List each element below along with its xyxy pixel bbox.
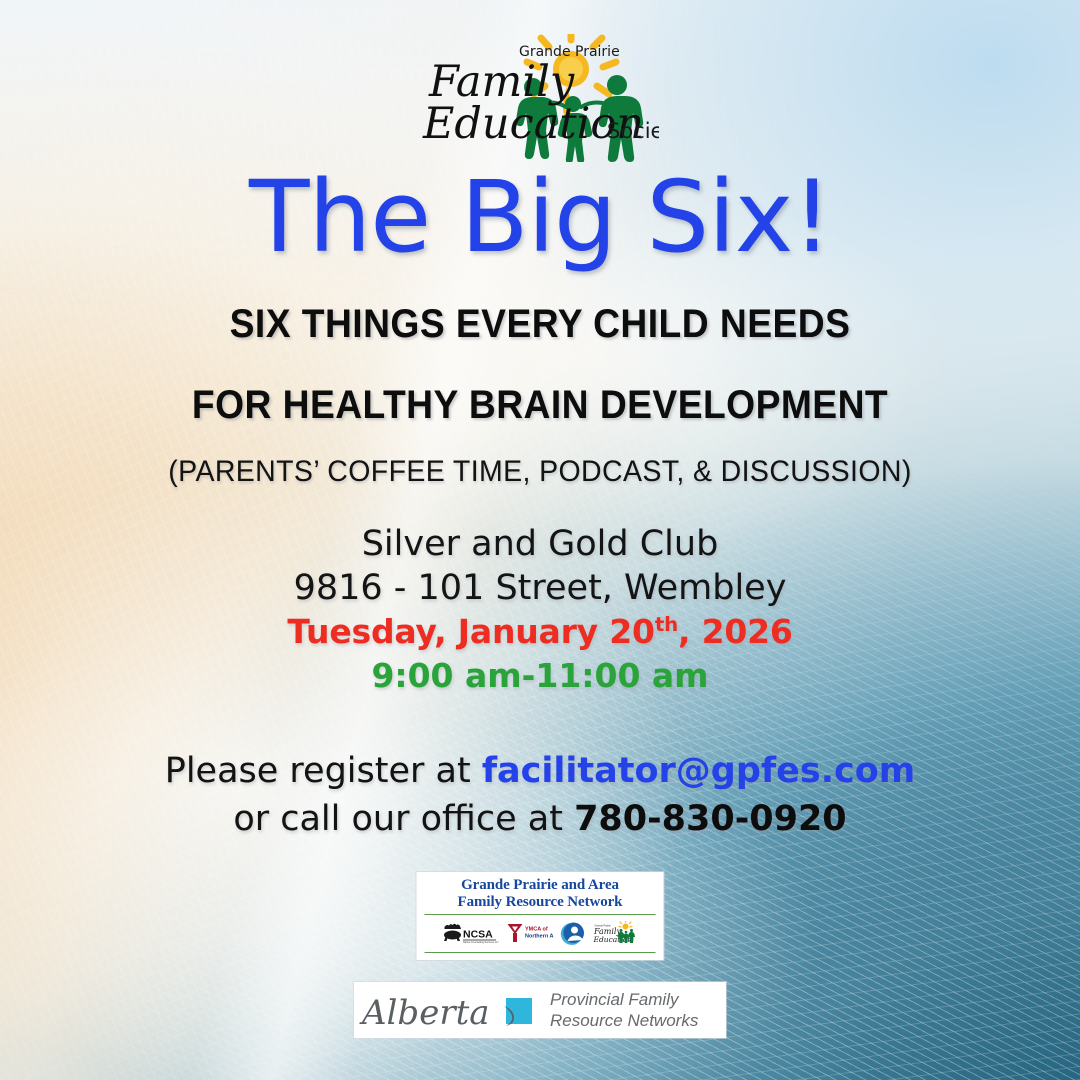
alberta-logo: Alberta Provincial Family Resource Netwo… <box>354 982 726 1038</box>
call-line: or call our office at 780-830-0920 <box>0 795 1080 843</box>
subtitle-line-1: SIX THINGS EVERY CHILD NEEDS <box>38 302 1042 347</box>
event-date-suffix: , 2026 <box>678 612 793 651</box>
office-phone-number[interactable]: 780-830-0920 <box>574 799 847 839</box>
frn-divider-top <box>425 914 656 915</box>
organization-logo: Grande Prairie Family Education Society <box>0 34 1080 162</box>
registration-details: Please register at facilitator@gpfes.com… <box>0 747 1080 843</box>
frn-divider-bottom <box>425 952 656 953</box>
alberta-wordmark-icon: Alberta <box>354 982 550 1038</box>
alberta-tagline: Provincial Family Resource Networks <box>550 989 698 1031</box>
venue-address: 9816 - 101 Street, Wembley <box>0 566 1080 610</box>
frn-title-line-1: Grande Prairie and Area <box>423 877 658 894</box>
family-sun-logo-icon: Grande Prairie Family Education Society <box>421 34 659 162</box>
ncsa-logo-icon: NCSA Native Counselling Services of Albe… <box>443 922 499 944</box>
venue-name: Silver and Gold Club <box>0 522 1080 566</box>
gpfes-small-logo-icon: Grande Prairie Family Education Society <box>594 921 638 945</box>
sexual-assault-centre-logo-icon <box>561 921 587 945</box>
event-details: Silver and Gold Club 9816 - 101 Street, … <box>0 522 1080 698</box>
alberta-tagline-line-2: Resource Networks <box>550 1010 698 1031</box>
svg-text:Native Counselling Services of: Native Counselling Services of Alberta <box>463 941 499 944</box>
logo-society-text: Society <box>607 119 659 143</box>
poster-canvas: Grande Prairie Family Education Society … <box>0 0 1080 1080</box>
frn-partner-logos: NCSA Native Counselling Services of Albe… <box>423 918 658 949</box>
event-date-ordinal: th <box>655 613 678 636</box>
svg-text:Alberta: Alberta <box>359 993 490 1033</box>
frn-title-line-2: Family Resource Network <box>423 894 658 911</box>
register-prefix-text: Please register at <box>165 751 482 791</box>
page-title: The Big Six! <box>0 168 1080 267</box>
event-date-prefix: Tuesday, January 20 <box>287 612 654 651</box>
event-date: Tuesday, January 20th, 2026 <box>0 610 1080 654</box>
event-time: 9:00 am-11:00 am <box>0 654 1080 698</box>
ymca-northern-alberta-logo-icon: YMCA of Northern Alberta <box>506 922 554 944</box>
frn-logo: Grande Prairie and Area Family Resource … <box>417 872 664 960</box>
alberta-tagline-line-1: Provincial Family <box>550 989 698 1010</box>
register-line: Please register at facilitator@gpfes.com <box>0 747 1080 795</box>
svg-text:Northern Alberta: Northern Alberta <box>525 934 554 940</box>
call-prefix-text: or call our office at <box>233 799 574 839</box>
svg-text:YMCA of: YMCA of <box>525 927 548 933</box>
subtitle-line-2: FOR HEALTHY BRAIN DEVELOPMENT <box>38 383 1042 428</box>
svg-text:NCSA: NCSA <box>463 929 493 941</box>
register-email-link[interactable]: facilitator@gpfes.com <box>482 751 915 791</box>
format-note: (PARENTS’ COFFEE TIME, PODCAST, & DISCUS… <box>27 455 1053 489</box>
